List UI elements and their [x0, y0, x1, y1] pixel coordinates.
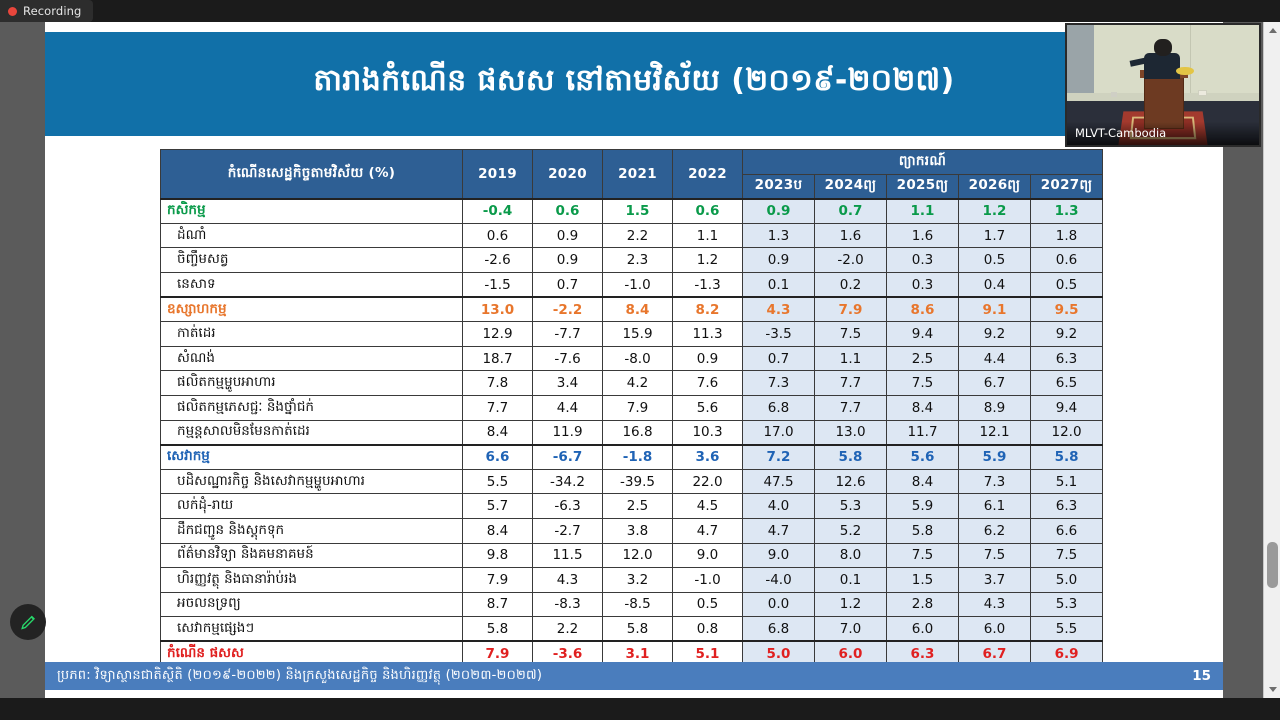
row-label: ហិរញ្ញវត្ថុ និងធានារ៉ាប់រង — [161, 568, 463, 593]
cell-value: 3.2 — [603, 568, 673, 593]
cell-value: 6.2 — [959, 518, 1031, 543]
row-label: ដឹកជញ្ជូន និងស្តុកទុក — [161, 518, 463, 543]
cell-value: -1.8 — [603, 445, 673, 470]
table-row: នេសាទ-1.50.7-1.0-1.30.10.20.30.40.5 — [161, 272, 1103, 297]
sector-growth-table-wrap: កំណើនសេដ្ឋកិច្ចតាមវិស័យ (%) 2019 2020 20… — [160, 149, 1102, 666]
table-row: កសិកម្ម-0.40.61.50.60.90.71.11.21.3 — [161, 199, 1103, 224]
cell-value: 11.5 — [533, 543, 603, 568]
cell-value: 7.8 — [463, 371, 533, 396]
cell-value: 5.6 — [887, 445, 959, 470]
cell-value: 7.9 — [815, 297, 887, 322]
cell-value: -1.0 — [673, 568, 743, 593]
cell-value: 7.5 — [887, 371, 959, 396]
cell-value: 5.5 — [1031, 617, 1103, 642]
cell-value: 12.6 — [815, 469, 887, 494]
cell-value: 2.2 — [533, 617, 603, 642]
cell-value: 6.0 — [959, 617, 1031, 642]
table-row: ឧស្សាហកម្ម13.0-2.28.48.24.37.98.69.19.5 — [161, 297, 1103, 322]
cell-value: 1.6 — [887, 223, 959, 248]
cell-value: 2.2 — [603, 223, 673, 248]
cell-value: -39.5 — [603, 469, 673, 494]
table-row: ដឹកជញ្ជូន និងស្តុកទុក8.4-2.73.84.74.75.2… — [161, 518, 1103, 543]
cell-value: 0.6 — [673, 199, 743, 224]
chevron-down-icon — [1269, 687, 1277, 692]
chevron-up-icon — [1269, 28, 1277, 33]
cell-value: 0.9 — [533, 223, 603, 248]
cell-value: -3.5 — [743, 322, 815, 347]
scroll-down-button[interactable] — [1264, 681, 1280, 698]
cell-value: 7.7 — [463, 395, 533, 420]
cell-value: 2.5 — [603, 494, 673, 519]
cell-value: 4.4 — [533, 395, 603, 420]
cell-value: 6.6 — [1031, 518, 1103, 543]
cell-value: 0.7 — [743, 346, 815, 371]
row-label: បដិសណ្ឋារកិច្ច និងសេវាកម្មម្ហូបអាហារ — [161, 469, 463, 494]
cell-value: -7.7 — [533, 322, 603, 347]
cell-value: 12.0 — [1031, 420, 1103, 445]
cell-value: 6.0 — [887, 617, 959, 642]
cell-value: -2.6 — [463, 248, 533, 273]
cell-value: 0.9 — [673, 346, 743, 371]
cell-value: 1.1 — [815, 346, 887, 371]
video-thumbnail[interactable]: MLVT-Cambodia — [1065, 23, 1261, 147]
table-row: ផលិតកម្មភេសជ្ជៈ និងថ្នាំជក់7.74.47.95.66… — [161, 395, 1103, 420]
cell-value: 9.8 — [463, 543, 533, 568]
row-label: ផលិតកម្មម្ហូបអាហារ — [161, 371, 463, 396]
cell-value: 4.0 — [743, 494, 815, 519]
row-label: ផលិតកម្មភេសជ្ជៈ និងថ្នាំជក់ — [161, 395, 463, 420]
cell-value: 4.3 — [743, 297, 815, 322]
cell-value: 5.1 — [1031, 469, 1103, 494]
cell-value: 5.8 — [1031, 445, 1103, 470]
slide-canvas: តារាងកំណើន ផសស នៅតាមវិស័យ (២០១៩-២០២៧) កំ… — [45, 22, 1223, 698]
table-row: សំណង់18.7-7.6-8.00.90.71.12.54.46.3 — [161, 346, 1103, 371]
cell-value: 6.8 — [743, 617, 815, 642]
cell-value: 47.5 — [743, 469, 815, 494]
cell-value: 9.2 — [959, 322, 1031, 347]
cell-value: 17.0 — [743, 420, 815, 445]
header-year-2024: 2024ព្យ — [815, 174, 887, 199]
cell-value: 7.3 — [959, 469, 1031, 494]
cell-value: 9.1 — [959, 297, 1031, 322]
row-label: សេវាកម្ម — [161, 445, 463, 470]
table-row: សេវាកម្ម6.6-6.7-1.83.67.25.85.65.95.8 — [161, 445, 1103, 470]
cell-value: 6.3 — [1031, 346, 1103, 371]
header-year-2027: 2027ព្យ — [1031, 174, 1103, 199]
cell-value: 3.4 — [533, 371, 603, 396]
cell-value: -8.0 — [603, 346, 673, 371]
cell-value: 11.3 — [673, 322, 743, 347]
cell-value: 5.8 — [815, 445, 887, 470]
cell-value: 1.2 — [959, 199, 1031, 224]
cell-value: 0.1 — [815, 568, 887, 593]
header-year-2025: 2025ព្យ — [887, 174, 959, 199]
cell-value: 12.0 — [603, 543, 673, 568]
table-body: កសិកម្ម-0.40.61.50.60.90.71.11.21.3ដំណាំ… — [161, 199, 1103, 666]
cell-value: 0.5 — [1031, 272, 1103, 297]
cell-value: 12.1 — [959, 420, 1031, 445]
cell-value: 0.0 — [743, 592, 815, 617]
cell-value: 8.6 — [887, 297, 959, 322]
table-row: បដិសណ្ឋារកិច្ច និងសេវាកម្មម្ហូបអាហារ5.5-… — [161, 469, 1103, 494]
row-label: កសិកម្ម — [161, 199, 463, 224]
cell-value: -8.3 — [533, 592, 603, 617]
cell-value: 15.9 — [603, 322, 673, 347]
cell-value: 9.4 — [887, 322, 959, 347]
pen-icon — [19, 613, 38, 632]
record-dot-icon — [8, 7, 17, 16]
speaker-body — [1144, 53, 1180, 79]
cell-value: 6.8 — [743, 395, 815, 420]
cell-value: 7.6 — [673, 371, 743, 396]
cell-value: 8.4 — [463, 518, 533, 543]
cell-value: 4.3 — [959, 592, 1031, 617]
wall-seam — [1190, 25, 1191, 101]
cell-value: 2.5 — [887, 346, 959, 371]
cell-value: 4.2 — [603, 371, 673, 396]
cell-value: 8.7 — [463, 592, 533, 617]
header-year-2019: 2019 — [463, 150, 533, 199]
scrollbar-thumb[interactable] — [1267, 542, 1278, 588]
wall-socket — [1198, 90, 1208, 96]
cell-value: 5.8 — [887, 518, 959, 543]
slide-title-banner: តារាងកំណើន ផសស នៅតាមវិស័យ (២០១៩-២០២៧) — [45, 32, 1223, 136]
cell-value: 0.3 — [887, 248, 959, 273]
cell-value: 11.7 — [887, 420, 959, 445]
cell-value: 1.5 — [603, 199, 673, 224]
viewer-left-rail — [0, 22, 45, 698]
cell-value: -2.7 — [533, 518, 603, 543]
header-year-2021: 2021 — [603, 150, 673, 199]
header-unit-label: កំណើនសេដ្ឋកិច្ចតាមវិស័យ (%) — [161, 150, 463, 199]
cell-value: 7.0 — [815, 617, 887, 642]
row-label: អចលនទ្រព្យ — [161, 592, 463, 617]
table-row: លក់ដុំ-រាយ5.7-6.32.54.54.05.35.96.16.3 — [161, 494, 1103, 519]
cell-value: 0.9 — [743, 248, 815, 273]
cell-value: -1.0 — [603, 272, 673, 297]
slide-footer: ប្រភព: វិទ្យាស្ថានជាតិស្ថិតិ (២០១៩-២០២២)… — [45, 662, 1223, 690]
cell-value: 0.6 — [533, 199, 603, 224]
cell-value: 7.5 — [1031, 543, 1103, 568]
header-year-2020: 2020 — [533, 150, 603, 199]
cell-value: 2.3 — [603, 248, 673, 273]
cell-value: 5.0 — [1031, 568, 1103, 593]
cell-value: 8.0 — [815, 543, 887, 568]
table-row: កម្មន្តសាលមិនមែនកាត់ដេរ8.411.916.810.317… — [161, 420, 1103, 445]
cell-value: 1.3 — [1031, 199, 1103, 224]
cell-value: 7.9 — [463, 568, 533, 593]
cell-value: 6.6 — [463, 445, 533, 470]
cell-value: 5.5 — [463, 469, 533, 494]
cell-value: 9.2 — [1031, 322, 1103, 347]
cell-value: 1.3 — [743, 223, 815, 248]
slide-page-number: 15 — [1192, 668, 1211, 684]
speaker-head — [1154, 39, 1171, 56]
cell-value: 11.9 — [533, 420, 603, 445]
cell-value: -4.0 — [743, 568, 815, 593]
header-year-2026: 2026ព្យ — [959, 174, 1031, 199]
cell-value: 0.2 — [815, 272, 887, 297]
cell-value: 8.4 — [463, 420, 533, 445]
cell-value: -34.2 — [533, 469, 603, 494]
cell-value: 1.1 — [673, 223, 743, 248]
cell-value: 7.5 — [959, 543, 1031, 568]
cell-value: 5.2 — [815, 518, 887, 543]
cell-value: 7.2 — [743, 445, 815, 470]
table-row: ផលិតកម្មម្ហូបអាហារ7.83.44.27.67.37.77.56… — [161, 371, 1103, 396]
wall-left — [1067, 25, 1094, 101]
row-label: ព័ត៌មានវិទ្យា និងគមនាគមន៍ — [161, 543, 463, 568]
participant-name: MLVT-Cambodia — [1067, 122, 1259, 145]
cell-value: 0.4 — [959, 272, 1031, 297]
cell-value: 3.7 — [959, 568, 1031, 593]
cell-value: 5.6 — [673, 395, 743, 420]
cell-value: 5.8 — [603, 617, 673, 642]
cell-value: 7.3 — [743, 371, 815, 396]
cell-value: 1.2 — [815, 592, 887, 617]
wall-socket-2 — [1111, 92, 1117, 97]
table-row: ចិញ្ចឹមសត្វ-2.60.92.31.20.9-2.00.30.50.6 — [161, 248, 1103, 273]
cell-value: -7.6 — [533, 346, 603, 371]
table-row: ព័ត៌មានវិទ្យា និងគមនាគមន៍9.811.512.09.09… — [161, 543, 1103, 568]
row-label: ចិញ្ចឹមសត្វ — [161, 248, 463, 273]
table-row: ហិរញ្ញវត្ថុ និងធានារ៉ាប់រង7.94.33.2-1.0-… — [161, 568, 1103, 593]
cell-value: 8.4 — [887, 395, 959, 420]
cell-value: 1.1 — [887, 199, 959, 224]
cell-value: -2.0 — [815, 248, 887, 273]
cell-value: -0.4 — [463, 199, 533, 224]
cell-value: 6.5 — [1031, 371, 1103, 396]
cell-value: 0.9 — [533, 248, 603, 273]
cell-value: 0.6 — [463, 223, 533, 248]
row-label: ដំណាំ — [161, 223, 463, 248]
footer-source-note: ប្រភព: វិទ្យាស្ថានជាតិស្ថិតិ (២០១៩-២០២២)… — [57, 667, 542, 686]
cell-value: 4.7 — [743, 518, 815, 543]
cell-value: 1.8 — [1031, 223, 1103, 248]
screen: Recording តារាងកំណើន ផសស នៅតាមវិស័យ (២០១… — [0, 0, 1280, 720]
cell-value: 0.6 — [1031, 248, 1103, 273]
cell-value: 7.5 — [815, 322, 887, 347]
cell-value: 0.7 — [533, 272, 603, 297]
cell-value: 0.1 — [743, 272, 815, 297]
cell-value: 0.5 — [673, 592, 743, 617]
cell-value: -2.2 — [533, 297, 603, 322]
table-row: អចលនទ្រព្យ8.7-8.3-8.50.50.01.22.84.35.3 — [161, 592, 1103, 617]
cell-value: 16.8 — [603, 420, 673, 445]
cell-value: 4.4 — [959, 346, 1031, 371]
cell-value: -1.5 — [463, 272, 533, 297]
cell-value: 1.6 — [815, 223, 887, 248]
cell-value: 4.7 — [673, 518, 743, 543]
cell-value: 4.5 — [673, 494, 743, 519]
cell-value: 9.5 — [1031, 297, 1103, 322]
table-row: ដំណាំ0.60.92.21.11.31.61.61.71.8 — [161, 223, 1103, 248]
table-head: កំណើនសេដ្ឋកិច្ចតាមវិស័យ (%) 2019 2020 20… — [161, 150, 1103, 199]
cell-value: -1.3 — [673, 272, 743, 297]
recording-label: Recording — [23, 4, 81, 18]
cell-value: 5.7 — [463, 494, 533, 519]
cell-value: 7.5 — [887, 543, 959, 568]
cell-value: 5.9 — [887, 494, 959, 519]
row-label: ឧស្សាហកម្ម — [161, 297, 463, 322]
cell-value: 13.0 — [463, 297, 533, 322]
cell-value: 8.4 — [887, 469, 959, 494]
cell-value: 12.9 — [463, 322, 533, 347]
table-row: កាត់ដេរ12.9-7.715.911.3-3.57.59.49.29.2 — [161, 322, 1103, 347]
annotate-pen-button[interactable] — [10, 604, 46, 640]
cell-value: 0.8 — [673, 617, 743, 642]
cell-value: -6.7 — [533, 445, 603, 470]
cell-value: 9.0 — [743, 543, 815, 568]
row-label: សេវាកម្មផ្សេងៗ — [161, 617, 463, 642]
cell-value: 5.3 — [1031, 592, 1103, 617]
row-label: កម្មន្តសាលមិនមែនកាត់ដេរ — [161, 420, 463, 445]
cell-value: 6.1 — [959, 494, 1031, 519]
cell-value: 9.4 — [1031, 395, 1103, 420]
cell-value: 0.5 — [959, 248, 1031, 273]
header-year-2022: 2022 — [673, 150, 743, 199]
cell-value: 8.2 — [673, 297, 743, 322]
cell-value: 8.9 — [959, 395, 1031, 420]
cell-value: 3.8 — [603, 518, 673, 543]
cell-value: -6.3 — [533, 494, 603, 519]
cell-value: 5.9 — [959, 445, 1031, 470]
row-label: សំណង់ — [161, 346, 463, 371]
cell-value: 7.9 — [603, 395, 673, 420]
cell-value: 1.7 — [959, 223, 1031, 248]
cell-value: 13.0 — [815, 420, 887, 445]
cell-value: 1.2 — [673, 248, 743, 273]
recording-indicator: Recording — [0, 0, 93, 22]
cell-value: 18.7 — [463, 346, 533, 371]
cell-value: 0.7 — [815, 199, 887, 224]
row-label: លក់ដុំ-រាយ — [161, 494, 463, 519]
row-label: កាត់ដេរ — [161, 322, 463, 347]
sector-growth-table: កំណើនសេដ្ឋកិច្ចតាមវិស័យ (%) 2019 2020 20… — [160, 149, 1103, 666]
vertical-scrollbar[interactable] — [1263, 22, 1280, 698]
row-label: នេសាទ — [161, 272, 463, 297]
cell-value: 0.3 — [887, 272, 959, 297]
cell-value: 6.3 — [1031, 494, 1103, 519]
podium — [1144, 73, 1184, 129]
table-row: សេវាកម្មផ្សេងៗ5.82.25.80.86.87.06.06.05.… — [161, 617, 1103, 642]
cell-value: -8.5 — [603, 592, 673, 617]
page-title: តារាងកំណើន ផសស នៅតាមវិស័យ (២០១៩-២០២៧) — [313, 62, 954, 106]
cell-value: 7.7 — [815, 371, 887, 396]
cell-value: 3.6 — [673, 445, 743, 470]
scroll-up-button[interactable] — [1264, 22, 1280, 39]
table-head-row-1: កំណើនសេដ្ឋកិច្ចតាមវិស័យ (%) 2019 2020 20… — [161, 150, 1103, 175]
cell-value: 4.3 — [533, 568, 603, 593]
header-projection-group: ព្យាករណ៍ — [743, 150, 1103, 175]
cell-value: 22.0 — [673, 469, 743, 494]
cell-value: 1.5 — [887, 568, 959, 593]
cell-value: 9.0 — [673, 543, 743, 568]
cell-value: 6.7 — [959, 371, 1031, 396]
cell-value: 7.7 — [815, 395, 887, 420]
header-year-2023: 2023ប — [743, 174, 815, 199]
cell-value: 5.8 — [463, 617, 533, 642]
cell-value: 10.3 — [673, 420, 743, 445]
cell-value: 5.3 — [815, 494, 887, 519]
cell-value: 2.8 — [887, 592, 959, 617]
cell-value: 8.4 — [603, 297, 673, 322]
cell-value: 0.9 — [743, 199, 815, 224]
